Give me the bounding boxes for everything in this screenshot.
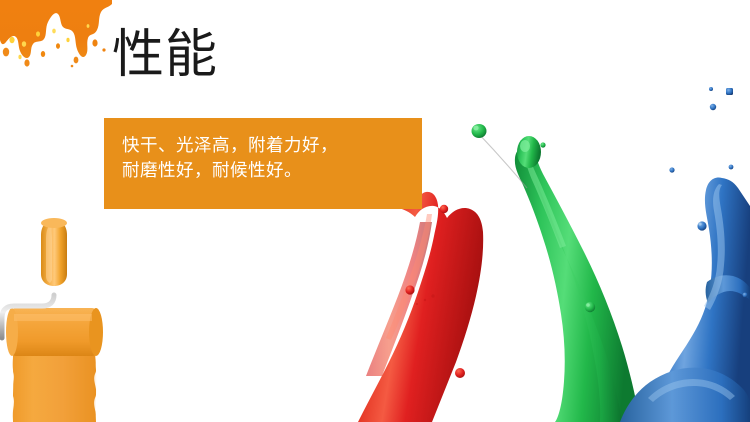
green-droplet [585,302,595,312]
paint-roller-icon [0,190,132,422]
red-droplet [455,368,465,378]
blue-paint-stream [620,87,750,422]
green-flying-droplet [472,124,487,138]
blue-droplet [697,221,706,230]
red-paint-stream [358,192,483,422]
blue-droplet [709,87,713,91]
blue-droplet [669,167,674,172]
orange-paint-splatter-icon [0,0,112,72]
green-paint-stream [472,124,641,422]
green-paint-thread [478,133,527,188]
blue-droplet [729,165,734,170]
red-droplet [440,205,448,213]
slide-canvas: 性能 快干、光泽高，附着力好， 耐磨性好，耐候性好。 [0,0,750,422]
blue-droplet [710,104,716,110]
roller-cylinder [12,308,96,356]
red-droplet [405,285,414,294]
page-title: 性能 [112,28,218,84]
blue-droplet [726,88,733,95]
feature-text-line-2: 耐磨性好，耐候性好。 [122,159,422,184]
feature-callout-box: 快干、光泽高，附着力好， 耐磨性好，耐候性好。 [104,118,422,209]
feature-text-line-1: 快干、光泽高，附着力好， [122,134,422,159]
green-tip-blob [517,136,541,168]
blue-droplet [743,293,748,298]
green-droplet [540,142,545,147]
